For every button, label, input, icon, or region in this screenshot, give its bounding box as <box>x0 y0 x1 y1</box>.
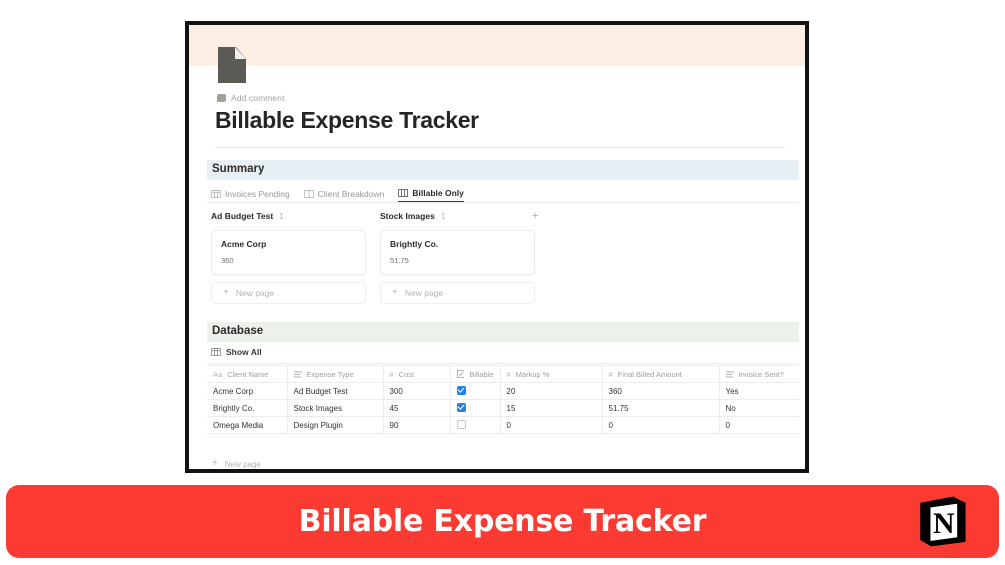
plus-icon: + <box>223 288 229 298</box>
database-table: Aa Client Name Expense Type # Cost <box>207 365 799 434</box>
cell-cost[interactable]: 90 <box>383 417 450 434</box>
cell-client-name[interactable]: Acme Corp <box>207 383 287 400</box>
checkbox-checked-icon[interactable] <box>457 386 466 395</box>
number-property-icon: # <box>507 370 511 379</box>
cell-invoice-sent[interactable]: 0 <box>719 417 799 434</box>
column-header-cost[interactable]: # Cost <box>383 366 450 383</box>
column-label: Final Billed Amount <box>618 370 682 379</box>
table-view-icon <box>211 348 221 356</box>
plus-icon: + <box>212 459 218 469</box>
view-tabs: Invoices Pending Client Breakdown B <box>211 185 464 202</box>
cell-expense-type[interactable]: Stock Images <box>287 400 383 417</box>
cell-billable[interactable] <box>450 400 500 417</box>
column-label: Expense Type <box>307 370 354 379</box>
board-view-icon <box>304 190 314 198</box>
add-board-group-button[interactable]: + <box>532 211 538 222</box>
tab-billable-only[interactable]: Billable Only <box>398 188 464 202</box>
board-group-ad-budget-test: Ad Budget Test 1 Acme Corp 360 + New pag… <box>211 211 366 304</box>
column-label: Markup % <box>516 370 550 379</box>
board-card-title: Acme Corp <box>221 239 356 249</box>
board-group-count: 1 <box>441 212 445 221</box>
view-tab-label: Show All <box>226 347 262 357</box>
board-group-count: 1 <box>279 212 283 221</box>
tab-label: Client Breakdown <box>318 189 385 199</box>
view-tab-show-all[interactable]: Show All <box>211 347 262 357</box>
table-row[interactable]: Omega Media Design Plugin 90 0 0 0 <box>207 417 799 434</box>
cell-client-name[interactable]: Omega Media <box>207 417 287 434</box>
board-group-header[interactable]: Ad Budget Test 1 <box>211 211 366 222</box>
column-header-final-billed-amount[interactable]: # Final Billed Amount <box>602 366 719 383</box>
cell-final-billed[interactable]: 51.75 <box>602 400 719 417</box>
board-view-icon <box>398 189 408 197</box>
tab-client-breakdown[interactable]: Client Breakdown <box>304 189 385 202</box>
cell-billable[interactable] <box>450 417 500 434</box>
column-header-markup[interactable]: # Markup % <box>500 366 602 383</box>
column-label: Invoice Sent? <box>739 370 784 379</box>
page-cover <box>189 25 805 66</box>
column-label: Client Name <box>227 370 268 379</box>
column-header-expense-type[interactable]: Expense Type <box>287 366 383 383</box>
tabs-divider <box>207 202 799 203</box>
comment-icon <box>217 94 226 102</box>
new-page-button[interactable]: + New page <box>380 282 535 304</box>
section-heading-summary: Summary <box>207 160 799 180</box>
table-header-row: Aa Client Name Expense Type # Cost <box>207 366 799 383</box>
board-card-value: 51.75 <box>390 256 525 265</box>
table-row[interactable]: Acme Corp Ad Budget Test 300 20 360 Yes <box>207 383 799 400</box>
cell-client-name[interactable]: Brightly Co. <box>207 400 287 417</box>
new-page-label: New page <box>236 288 274 298</box>
new-page-label: New page <box>405 288 443 298</box>
add-comment-label: Add comment <box>231 93 285 103</box>
view-tabs-divider <box>207 363 799 364</box>
checkbox-property-icon <box>457 370 465 378</box>
board-group-name: Stock Images <box>380 211 435 221</box>
column-header-billable[interactable]: Billable <box>450 366 500 383</box>
board-group-name: Ad Budget Test <box>211 211 273 221</box>
board-group-stock-images: Stock Images 1 Brightly Co. 51.75 + New … <box>380 211 535 304</box>
cell-invoice-sent[interactable]: Yes <box>719 383 799 400</box>
board-card-value: 360 <box>221 256 356 265</box>
cell-markup[interactable]: 15 <box>500 400 602 417</box>
board-card-title: Brightly Co. <box>390 239 525 249</box>
number-property-icon: # <box>390 370 394 379</box>
table-view-icon <box>211 190 221 198</box>
column-header-client-name[interactable]: Aa Client Name <box>207 366 287 383</box>
checkbox-checked-icon[interactable] <box>457 403 466 412</box>
column-label: Billable <box>469 370 493 379</box>
cell-markup[interactable]: 0 <box>500 417 602 434</box>
board-view: Ad Budget Test 1 Acme Corp 360 + New pag… <box>211 211 791 304</box>
section-heading-database: Database <box>207 322 799 342</box>
title-property-icon: Aa <box>213 370 222 379</box>
cell-expense-type[interactable]: Ad Budget Test <box>287 383 383 400</box>
add-comment-button[interactable]: Add comment <box>217 93 285 103</box>
column-header-invoice-sent[interactable]: Invoice Sent? <box>719 366 799 383</box>
cell-final-billed[interactable]: 360 <box>602 383 719 400</box>
board-group-header[interactable]: Stock Images 1 <box>380 211 535 222</box>
number-property-icon: # <box>609 370 613 379</box>
table-row[interactable]: Brightly Co. Stock Images 45 15 51.75 No <box>207 400 799 417</box>
notion-logo-icon: N <box>913 492 971 550</box>
database-heading-text: Database <box>212 325 263 337</box>
board-card[interactable]: Acme Corp 360 <box>211 230 366 275</box>
tab-invoices-pending[interactable]: Invoices Pending <box>211 189 290 202</box>
screenshot-canvas: Add comment Billable Expense Tracker Sum… <box>0 0 1005 565</box>
board-card[interactable]: Brightly Co. 51.75 <box>380 230 535 275</box>
summary-heading-text: Summary <box>212 163 264 175</box>
text-property-icon <box>294 371 302 378</box>
cell-markup[interactable]: 20 <box>500 383 602 400</box>
new-row-label: New page <box>225 460 261 469</box>
cell-cost[interactable]: 45 <box>383 400 450 417</box>
text-property-icon <box>726 371 734 378</box>
document-icon[interactable] <box>218 47 246 83</box>
cell-invoice-sent[interactable]: No <box>719 400 799 417</box>
new-row-button[interactable]: + New page <box>207 456 799 469</box>
tab-label: Invoices Pending <box>225 189 290 199</box>
bottom-banner: Billable Expense Tracker N <box>6 485 999 558</box>
notion-screenshot-frame: Add comment Billable Expense Tracker Sum… <box>185 21 809 473</box>
cell-final-billed[interactable]: 0 <box>602 417 719 434</box>
svg-text:N: N <box>933 507 955 540</box>
cell-cost[interactable]: 300 <box>383 383 450 400</box>
plus-icon: + <box>392 288 398 298</box>
page-title[interactable]: Billable Expense Tracker <box>215 107 479 134</box>
tab-label: Billable Only <box>412 188 464 198</box>
title-divider <box>215 147 785 148</box>
new-page-button[interactable]: + New page <box>211 282 366 304</box>
banner-title: Billable Expense Tracker <box>299 504 707 539</box>
column-label: Cost <box>399 370 414 379</box>
checkbox-unchecked-icon[interactable] <box>457 420 466 429</box>
cell-expense-type[interactable]: Design Plugin <box>287 417 383 434</box>
cell-billable[interactable] <box>450 383 500 400</box>
